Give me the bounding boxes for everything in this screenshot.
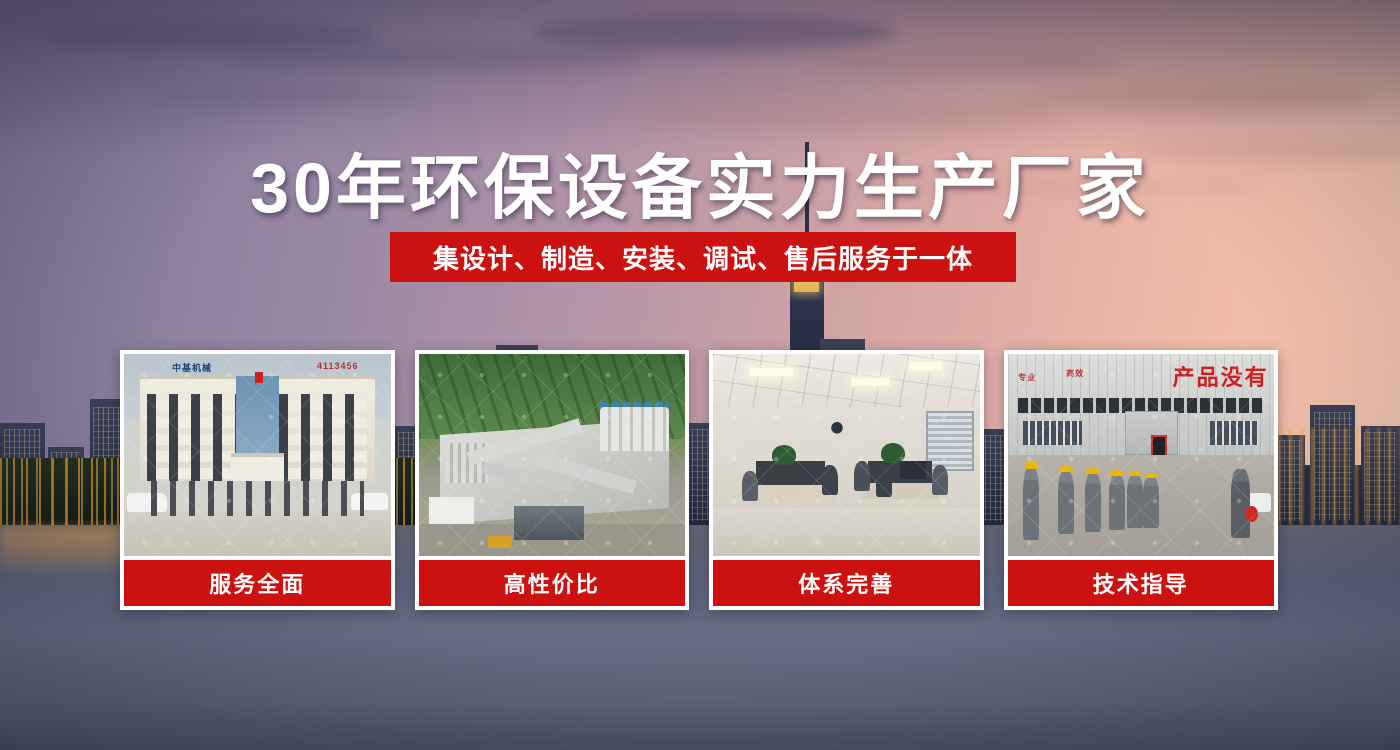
worker-with-hardhat xyxy=(1109,475,1125,530)
ceiling-light xyxy=(750,368,793,376)
worker-with-hardhat xyxy=(1127,475,1143,528)
feature-card-list: 中基机械 4113456 服务全面 xyxy=(120,350,1278,610)
worker-with-hardhat xyxy=(1085,473,1101,532)
flag xyxy=(255,372,263,383)
subtitle-text: 集设计、制造、安装、调试、售后服务于一体 xyxy=(433,239,973,276)
supervisor xyxy=(1231,469,1250,538)
office-worker xyxy=(822,465,838,495)
office-worker xyxy=(876,467,892,497)
ceiling-light xyxy=(910,362,942,370)
card-caption: 服务全面 xyxy=(124,560,391,606)
desk-partition xyxy=(756,461,825,485)
wall-slogan-large: 产品没有 xyxy=(1173,360,1269,392)
building-sign-text: 中基机械 xyxy=(172,361,212,374)
excavator xyxy=(488,536,512,548)
office-worker xyxy=(932,465,948,495)
potted-plant xyxy=(772,445,796,465)
factory-window xyxy=(1210,421,1258,445)
feature-card[interactable]: 中基机械 4113456 服务全面 xyxy=(120,350,395,610)
card-photo-plant-aerial xyxy=(419,354,686,556)
worker-with-hardhat xyxy=(1143,477,1159,528)
computer-monitor xyxy=(900,461,927,479)
red-helmet xyxy=(1245,506,1258,522)
feature-card[interactable]: 高性价比 xyxy=(415,350,690,610)
promo-banner: 30年环保设备实力生产厂家 集设计、制造、安装、调试、售后服务于一体 中基机械 … xyxy=(0,0,1400,750)
office-worker xyxy=(854,461,870,491)
potted-plant xyxy=(881,443,905,463)
factory-window xyxy=(1023,421,1082,445)
building-entrance xyxy=(231,453,284,481)
office-worker xyxy=(742,471,758,501)
feature-card[interactable]: 体系完善 xyxy=(709,350,984,610)
storage-silos xyxy=(600,407,669,451)
ceiling-light xyxy=(852,378,889,386)
window-blinds xyxy=(926,411,974,472)
forecourt xyxy=(124,512,391,556)
card-caption: 体系完善 xyxy=(713,560,980,606)
wall-logo xyxy=(820,415,855,447)
feature-card[interactable]: 产品没有 专业 高效 技术指导 xyxy=(1004,350,1279,610)
page-title: 30年环保设备实力生产厂家 xyxy=(0,132,1400,233)
card-photo-factory-workers: 产品没有 专业 高效 xyxy=(1008,354,1275,556)
office-desk xyxy=(858,483,941,499)
building-phone-text: 4113456 xyxy=(317,361,359,371)
worker-with-hardhat xyxy=(1058,471,1074,534)
card-caption: 技术指导 xyxy=(1008,560,1275,606)
wall-slogan-small: 专业 xyxy=(1018,372,1036,383)
subtitle-banner: 集设计、制造、安装、调试、售后服务于一体 xyxy=(390,232,1016,282)
office-floor xyxy=(713,508,980,556)
card-photo-office-interior xyxy=(713,354,980,556)
plant-office xyxy=(429,497,474,523)
worker-with-hardhat xyxy=(1023,467,1039,540)
card-photo-headquarters: 中基机械 4113456 xyxy=(124,354,391,556)
plant-shed xyxy=(514,506,583,540)
staff-row xyxy=(151,481,364,515)
wall-slogan-small: 高效 xyxy=(1066,368,1084,379)
card-caption: 高性价比 xyxy=(419,560,686,606)
